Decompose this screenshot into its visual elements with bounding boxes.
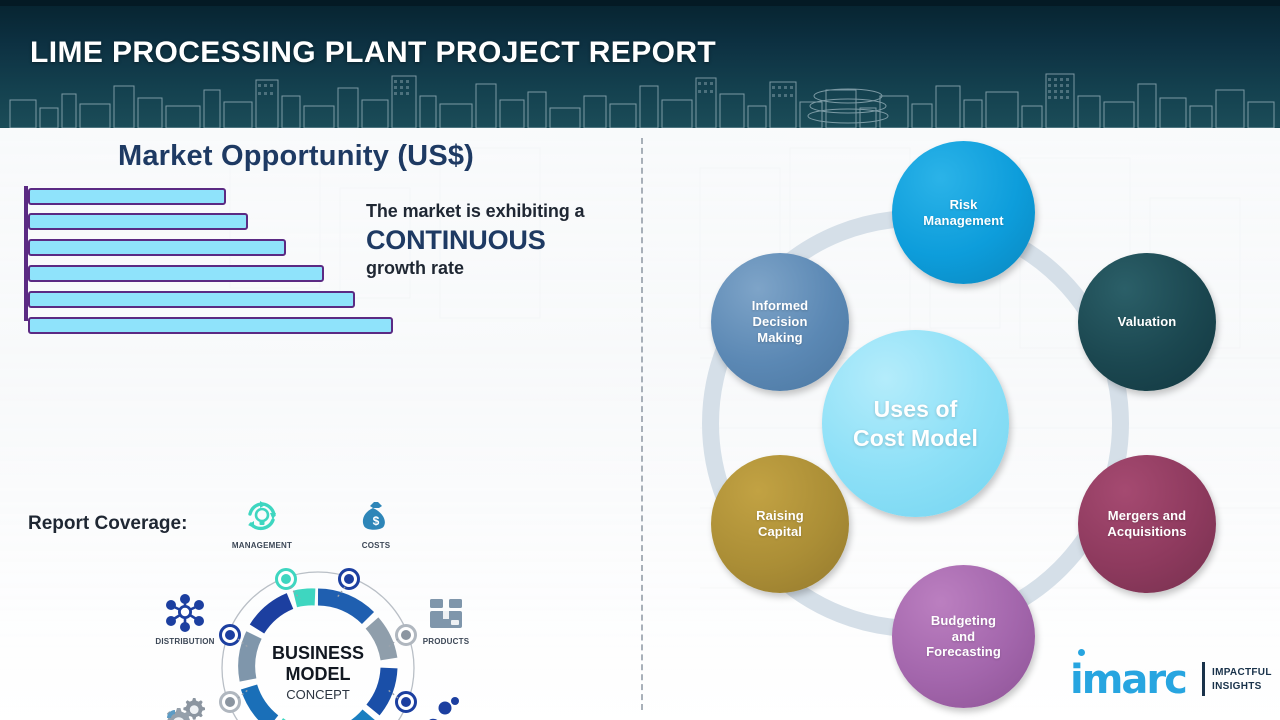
coverage-item-management xyxy=(242,498,282,543)
network-nodes-icon xyxy=(163,593,207,633)
content-area: Market Opportunity (US$) The market is e… xyxy=(0,128,1280,720)
coverage-item-costs: $ xyxy=(356,498,396,543)
svg-text:CONCEPT: CONCEPT xyxy=(286,687,350,702)
node-informed-decision-making[interactable]: Informed Decision Making xyxy=(711,253,849,391)
chart-bar xyxy=(28,239,286,256)
market-statement: The market is exhibiting a CONTINUOUS gr… xyxy=(366,201,641,279)
node-informed-line2: Decision xyxy=(746,314,814,330)
statement-line-1: The market is exhibiting a xyxy=(366,201,641,222)
logo-tagline-line1: IMPACTFUL xyxy=(1212,667,1272,678)
node-budgeting-and-forecasting[interactable]: Budgeting and Forecasting xyxy=(892,565,1035,708)
svg-text:BUSINESS: BUSINESS xyxy=(272,643,364,663)
coverage-item-revenue xyxy=(424,694,468,720)
node-risk-management[interactable]: Risk Management xyxy=(892,141,1035,284)
node-raising-line2: Capital xyxy=(750,524,810,540)
node-uses-of-cost-model[interactable]: Uses of Cost Model xyxy=(822,330,1009,517)
chart-bar xyxy=(28,317,393,334)
market-opportunity-chart xyxy=(24,186,424,321)
money-bag-icon: $ xyxy=(356,498,396,538)
node-mergers-and-acquisitions[interactable]: Mergers and Acquisitions xyxy=(1078,455,1216,593)
box-package-icon xyxy=(425,593,467,635)
node-risk-line2: Management xyxy=(917,213,1009,229)
city-skyline-icon xyxy=(0,66,1280,128)
coverage-item-distribution xyxy=(163,593,207,638)
business-model-diagram: BUSINESS MODEL CONCEPT MANAGEMENT xyxy=(140,496,510,720)
statement-line-3: growth rate xyxy=(366,258,641,279)
node-budget-line2: and xyxy=(920,629,1007,645)
page-title: LIME PROCESSING PLANT PROJECT REPORT xyxy=(30,36,716,70)
logo-tagline: IMPACTFUL INSIGHTS xyxy=(1212,666,1272,693)
logo-wordmark: imarc xyxy=(1070,660,1186,700)
chart-bar xyxy=(28,213,248,230)
node-valuation-line1: Valuation xyxy=(1112,314,1183,330)
coverage-item-services xyxy=(161,694,209,720)
node-valuation[interactable]: Valuation xyxy=(1078,253,1216,391)
logo-tagline-line2: INSIGHTS xyxy=(1212,681,1262,692)
chart-bar xyxy=(28,291,355,308)
coverage-label-products: PRODUCTS xyxy=(423,637,470,646)
gears-icon xyxy=(161,694,209,720)
node-budget-line3: Forecasting xyxy=(920,644,1007,660)
center-line2: Cost Model xyxy=(847,424,984,452)
header-top-accent xyxy=(0,0,1280,6)
svg-text:MODEL: MODEL xyxy=(286,664,351,684)
hand-coins-icon xyxy=(424,694,468,720)
recycle-bulb-icon xyxy=(242,498,282,538)
coverage-item-products xyxy=(425,593,467,640)
page-header: LIME PROCESSING PLANT PROJECT REPORT xyxy=(0,0,1280,128)
market-opportunity-title: Market Opportunity (US$) xyxy=(118,140,474,173)
logo-divider xyxy=(1202,662,1205,696)
left-panel: Market Opportunity (US$) The market is e… xyxy=(0,128,641,720)
node-mergers-line2: Acquisitions xyxy=(1101,524,1192,540)
node-budget-line1: Budgeting xyxy=(920,613,1007,629)
coverage-label-costs: COSTS xyxy=(362,541,391,550)
statement-highlight: CONTINUOUS xyxy=(366,222,641,258)
center-line1: Uses of xyxy=(847,395,984,423)
imarc-logo[interactable]: imarc IMPACTFUL INSIGHTS xyxy=(1070,660,1270,708)
node-risk-line1: Risk xyxy=(917,197,1009,213)
node-informed-line3: Making xyxy=(746,330,814,346)
node-mergers-line1: Mergers and xyxy=(1101,508,1192,524)
chart-bar xyxy=(28,265,324,282)
chart-bar xyxy=(28,188,226,205)
logo-dot-icon xyxy=(1078,649,1085,656)
node-informed-line1: Informed xyxy=(746,298,814,314)
node-raising-capital[interactable]: Raising Capital xyxy=(711,455,849,593)
right-panel: Informed Decision Making Risk Management… xyxy=(641,128,1280,720)
node-raising-line1: Raising xyxy=(750,508,810,524)
svg-text:$: $ xyxy=(373,514,380,528)
coverage-label-distribution: DISTRIBUTION xyxy=(155,637,214,646)
coverage-label-management: MANAGEMENT xyxy=(232,541,292,550)
